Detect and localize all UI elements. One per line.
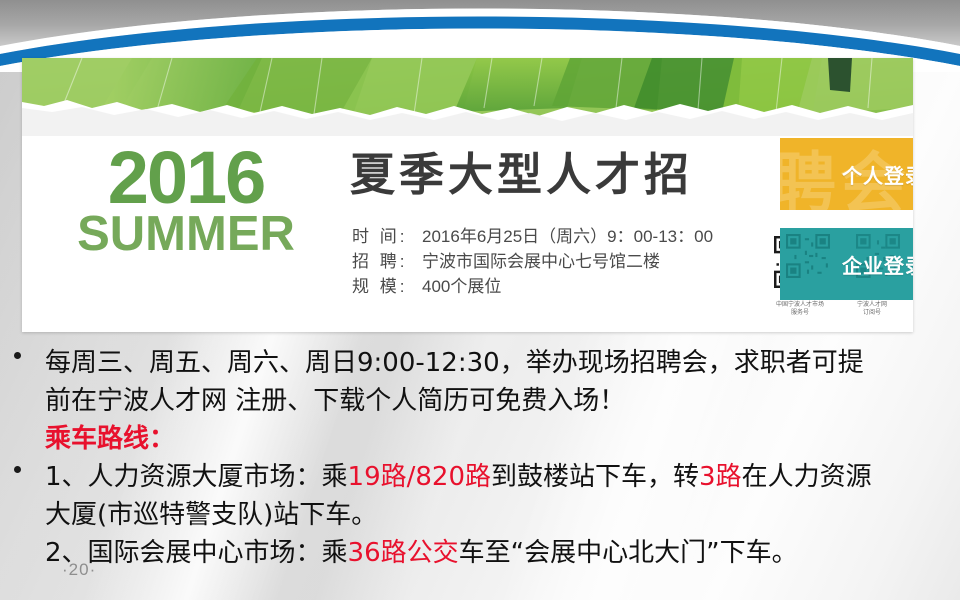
bullet-marker-icon	[14, 466, 21, 473]
qr-caption-service: 中国宁波人才市场 服务号	[760, 301, 840, 317]
qr-caption-subscription-line2: 订阅号	[832, 309, 912, 317]
qr-code-embedded-left	[786, 234, 830, 278]
bullet-paragraph-routes: 1、人力资源大厦市场：乘19路/820路到鼓楼站下车，转3路在人力资源 大厦(市…	[0, 458, 960, 572]
route-1-text-c: 在人力资源	[742, 462, 872, 492]
poster-meta-row: 招 聘: 宁波市国际会展中心七号馆二楼	[352, 249, 713, 274]
route-1-text-b: 到鼓楼站下车，转	[491, 462, 699, 492]
poster-meta-list: 时 间: 2016年6月25日（周六）9：00-13：00 招 聘: 宁波市国际…	[352, 224, 713, 299]
slide-canvas: 2016 SUMMER 夏季大型人才招 时 间: 2016年6月25日（周六）9…	[0, 0, 960, 600]
poster-meta-value: 400个展位	[422, 274, 501, 299]
route-1-bus-numbers-transfer: 3路	[699, 462, 742, 492]
poster-meta-key: 招 聘:	[352, 249, 422, 274]
company-login-banner[interactable]: 企业登录	[780, 228, 913, 300]
bullet-paragraph-schedule: 每周三、周五、周六、周日9:00-12:30，举办现场招聘会，求职者可提 前在宁…	[0, 344, 960, 420]
poster-leaf-band	[22, 58, 913, 136]
qr-caption-service-line2: 服务号	[760, 309, 840, 317]
recruitment-poster: 2016 SUMMER 夏季大型人才招 时 间: 2016年6月25日（周六）9…	[22, 58, 913, 332]
personal-login-label: 个人登录	[842, 160, 913, 189]
schedule-line-1: 每周三、周五、周六、周日9:00-12:30，举办现场招聘会，求职者可提	[45, 344, 960, 382]
company-login-label: 企业登录	[842, 250, 913, 279]
qr-caption-subscription-line1: 宁波人才网	[832, 301, 912, 309]
route-2-line: 2、国际会展中心市场：乘36路公交车至“会展中心北大门”下车。	[45, 534, 960, 572]
poster-meta-key: 时 间:	[352, 224, 422, 249]
routes-heading-paragraph: 乘车路线：	[0, 420, 960, 458]
page-number: ·20·	[62, 560, 96, 580]
poster-meta-key: 规 模:	[352, 274, 422, 299]
route-1-line-1: 1、人力资源大厦市场：乘19路/820路到鼓楼站下车，转3路在人力资源	[45, 458, 960, 496]
route-1-line-2: 大厦(市巡特警支队)站下车。	[45, 496, 960, 534]
routes-heading: 乘车路线：	[45, 420, 960, 458]
qr-caption-service-line1: 中国宁波人才市场	[760, 301, 840, 309]
poster-brand-block: 2016 SUMMER	[36, 144, 336, 257]
personal-login-banner[interactable]: 聘会 个人登录	[780, 138, 913, 210]
poster-title: 夏季大型人才招	[350, 138, 693, 203]
schedule-line-2: 前在宁波人才网 注册、下载个人简历可免费入场！	[45, 382, 960, 420]
route-1-bus-numbers-primary: 19路/820路	[348, 462, 491, 492]
route-1-text-a: 1、人力资源大厦市场：乘	[45, 462, 348, 492]
slide-body-text: 每周三、周五、周六、周日9:00-12:30，举办现场招聘会，求职者可提 前在宁…	[0, 344, 960, 572]
bullet-marker-icon	[14, 352, 21, 359]
poster-meta-value: 2016年6月25日（周六）9：00-13：00	[422, 224, 713, 249]
poster-brand-year: 2016	[36, 144, 336, 212]
poster-meta-value: 宁波市国际会展中心七号馆二楼	[422, 249, 660, 274]
poster-meta-row: 时 间: 2016年6月25日（周六）9：00-13：00	[352, 224, 713, 249]
qr-caption-subscription: 宁波人才网 订阅号	[832, 301, 912, 317]
route-2-text-b: 车至“会展中心北大门”下车。	[459, 538, 798, 568]
poster-brand-season: SUMMER	[36, 212, 336, 257]
poster-meta-row: 规 模: 400个展位	[352, 274, 713, 299]
route-2-bus-number: 36路公交	[348, 538, 459, 568]
